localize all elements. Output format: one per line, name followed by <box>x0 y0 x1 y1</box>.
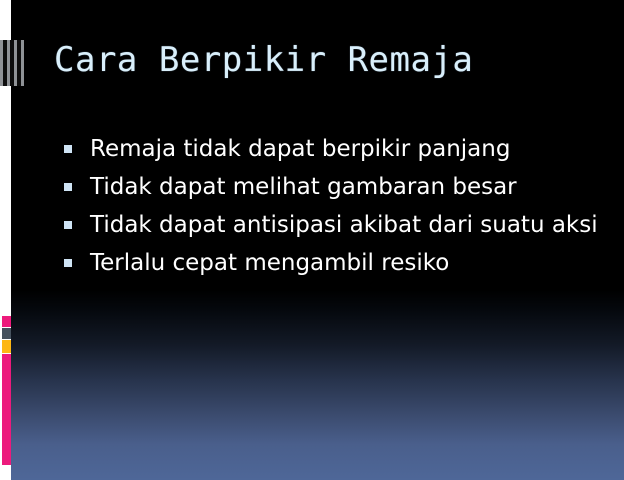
slide-title: Cara Berpikir Remaja <box>54 38 473 82</box>
presentation-slide: Cara Berpikir Remaja Remaja tidak dapat … <box>0 0 624 480</box>
list-item: Tidak dapat melihat gambaran besar <box>58 168 598 206</box>
list-item: Tidak dapat antisipasi akibat dari suatu… <box>58 206 598 244</box>
color-chip-pink <box>2 316 11 327</box>
color-chip-slate <box>2 328 11 339</box>
list-item-label: Tidak dapat antisipasi akibat dari suatu… <box>90 212 598 238</box>
vertical-bar-3 <box>17 40 21 86</box>
color-chip-amber <box>2 340 11 353</box>
list-item-label: Remaja tidak dapat berpikir panjang <box>90 136 510 162</box>
square-bullet-icon <box>64 221 72 229</box>
vertical-bar-1 <box>3 40 7 86</box>
long-pink-accent-bar <box>2 354 11 465</box>
square-bullet-icon <box>64 145 72 153</box>
list-item: Remaja tidak dapat berpikir panjang <box>58 130 598 168</box>
list-item-label: Terlalu cepat mengambil resiko <box>90 250 449 276</box>
bullet-list: Remaja tidak dapat berpikir panjang Tida… <box>58 130 598 282</box>
vertical-bars-decoration <box>0 40 24 86</box>
square-bullet-icon <box>64 259 72 267</box>
list-item-label: Tidak dapat melihat gambaran besar <box>90 174 517 200</box>
square-bullet-icon <box>64 183 72 191</box>
vertical-bar-2 <box>10 40 14 86</box>
left-decorative-strip <box>0 0 11 480</box>
list-item: Terlalu cepat mengambil resiko <box>58 244 598 282</box>
